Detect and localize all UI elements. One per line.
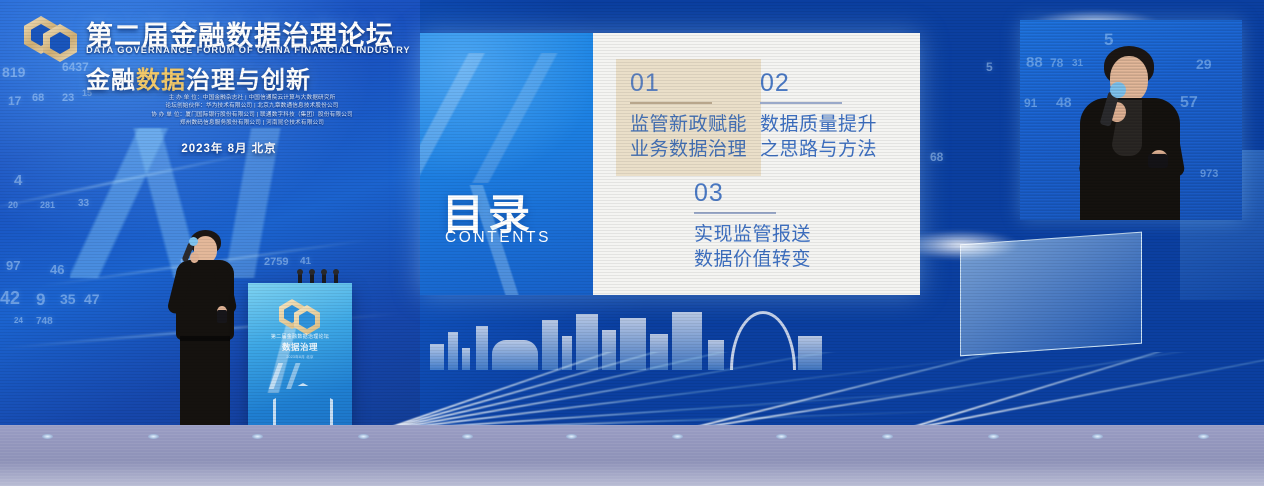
slide-item-line1: 监管新政赋能: [630, 112, 747, 137]
slide-item-number: 01: [630, 71, 747, 96]
organizer-line: 主 办 单 位：中国金融杂志社 | 中国信通院云计算与大数据研究所: [104, 94, 400, 102]
feed-number: 973: [1200, 168, 1218, 180]
wall-number: 42: [0, 288, 20, 309]
podium-logo-icon: [279, 297, 321, 331]
banner-theme: 金融数据治理与创新: [86, 60, 311, 95]
decor-glass-panel: [960, 232, 1142, 357]
slide-item-line2: 之思路与方法: [760, 137, 877, 162]
wall-number: 23: [62, 92, 74, 104]
slide-item-01: 01 监管新政赋能 业务数据治理: [616, 59, 761, 176]
banner-date: 2023年 8月 北京: [104, 140, 354, 156]
wall-number: 748: [36, 316, 53, 327]
banner-theme-highlight: 数据: [136, 67, 186, 94]
microphone-head: [189, 237, 198, 246]
podium-title-small: 第二届金融数据治理论坛: [258, 333, 342, 340]
feed-number: 5: [1104, 30, 1113, 50]
speaker-hair: [1104, 46, 1154, 86]
wall-number: 97: [6, 258, 20, 273]
feed-number: 29: [1196, 56, 1212, 72]
organizer-line: 郑州数码信息服务股份有限公司 | 河南昆仑技术有限公司: [104, 119, 400, 127]
slide-item-line2: 数据价值转变: [694, 247, 811, 272]
slide-heading-cn: 目录: [442, 181, 534, 242]
wall-number: 46: [50, 262, 64, 277]
feed-number: 88: [1026, 54, 1043, 71]
speaker-head: [1110, 56, 1148, 102]
wall-number: 68: [930, 150, 943, 164]
banner-title-en: DATA GOVERNANCE FORUM OF CHINA FINANCIAL…: [86, 45, 411, 55]
presentation-slide: 目录 CONTENTS 01 监管新政赋能 业务数据治理 02 数据质量提升 之…: [420, 33, 920, 295]
banner-theme-part1: 金融: [86, 67, 136, 94]
wall-number: 68: [32, 92, 44, 104]
feed-number: 78: [1050, 56, 1063, 70]
speaker-trousers: [180, 335, 230, 432]
speaker-arm-left: [1078, 106, 1118, 180]
wall-number: 4: [14, 172, 22, 189]
feed-number: 48: [1056, 94, 1072, 110]
slide-item-rule: [760, 102, 842, 104]
slide-item-03: 03 实现监管报送 数据价值转变: [694, 181, 811, 272]
led-wall-background: 88 78 31 29 91 48 57 973 68 5 819 6437 1…: [0, 0, 1264, 432]
wall-number: 281: [40, 200, 55, 210]
stage-floor: [0, 425, 1264, 486]
wall-number: 17: [8, 94, 21, 108]
podium-title-tiny: 2023年8月 北京: [258, 355, 342, 360]
slide-item-02: 02 数据质量提升 之思路与方法: [760, 71, 877, 162]
wall-number: 2759: [264, 256, 288, 268]
speaker-hand-mic: [190, 252, 199, 263]
presenter-clicker: [1148, 154, 1168, 168]
slide-item-number: 02: [760, 71, 877, 96]
feed-number: 31: [1072, 58, 1083, 69]
feed-number: 57: [1180, 94, 1198, 112]
organizer-line: 协 办 单 位：厦门国际银行股份有限公司 | 联通数字科技（集团）股份有限公司: [104, 111, 400, 119]
feed-number: 91: [1024, 96, 1037, 110]
slide-item-line1: 数据质量提升: [760, 112, 877, 137]
microphone-head: [1110, 82, 1126, 98]
wall-number: 24: [14, 316, 23, 325]
wall-number: 35: [60, 291, 76, 307]
forum-logo-icon: [24, 10, 82, 66]
slide-item-line1: 实现监管报送: [694, 222, 811, 247]
slide-item-text: 数据质量提升 之思路与方法: [760, 112, 877, 162]
wall-number: 33: [78, 198, 89, 209]
speaker-shirt: [1112, 100, 1142, 156]
speaker-closeup: [1078, 46, 1188, 220]
slide-item-line2: 业务数据治理: [630, 137, 747, 162]
wall-number: 20: [8, 200, 18, 210]
slide-item-rule: [694, 212, 776, 214]
podium-calligraphy: [264, 363, 324, 389]
slide-item-rule: [630, 102, 712, 104]
speaker-hand-mic: [1108, 102, 1126, 122]
light-ray-graphic: [380, 352, 1264, 432]
wall-number: 819: [2, 64, 25, 80]
speaker-hand-clicker: [1150, 150, 1168, 168]
slide-heading-en: CONTENTS: [445, 229, 551, 247]
podium-title-big: 数据治理: [258, 341, 342, 353]
slide-item-text: 监管新政赋能 业务数据治理: [630, 112, 747, 162]
live-camera-feed: 88 78 31 29 91 48 57 5 973: [1020, 20, 1242, 220]
slide-left-panel: 目录 CONTENTS: [420, 33, 593, 295]
wall-number: 9: [36, 290, 45, 310]
branded-podium: 第二届金融数据治理论坛 数据治理 2023年8月 北京: [248, 283, 352, 432]
speaker-belt: [180, 336, 230, 341]
organizer-block: 主 办 单 位：中国金融杂志社 | 中国信通院云计算与大数据研究所 论坛创始伙伴…: [104, 94, 400, 128]
microphone: [1100, 91, 1120, 127]
speaker-jacket: [1080, 98, 1180, 220]
slide-item-text: 实现监管报送 数据价值转变: [694, 222, 811, 272]
presenter-clicker: [217, 310, 227, 323]
speaker-on-stage: [160, 230, 250, 432]
speaker-arm-right: [1146, 110, 1185, 180]
stage-photo: 88 78 31 29 91 48 57 973 68 5 819 6437 1…: [0, 0, 1264, 486]
wall-number: 41: [300, 256, 311, 267]
wall-number: 47: [84, 291, 100, 307]
wall-number: 5: [986, 60, 993, 74]
organizer-line: 论坛创始伙伴：华为技术有限公司 | 北京九章数通信息技术股份公司: [104, 102, 400, 110]
banner-theme-part2: 治理与创新: [186, 67, 311, 94]
slide-item-number: 03: [694, 181, 811, 206]
